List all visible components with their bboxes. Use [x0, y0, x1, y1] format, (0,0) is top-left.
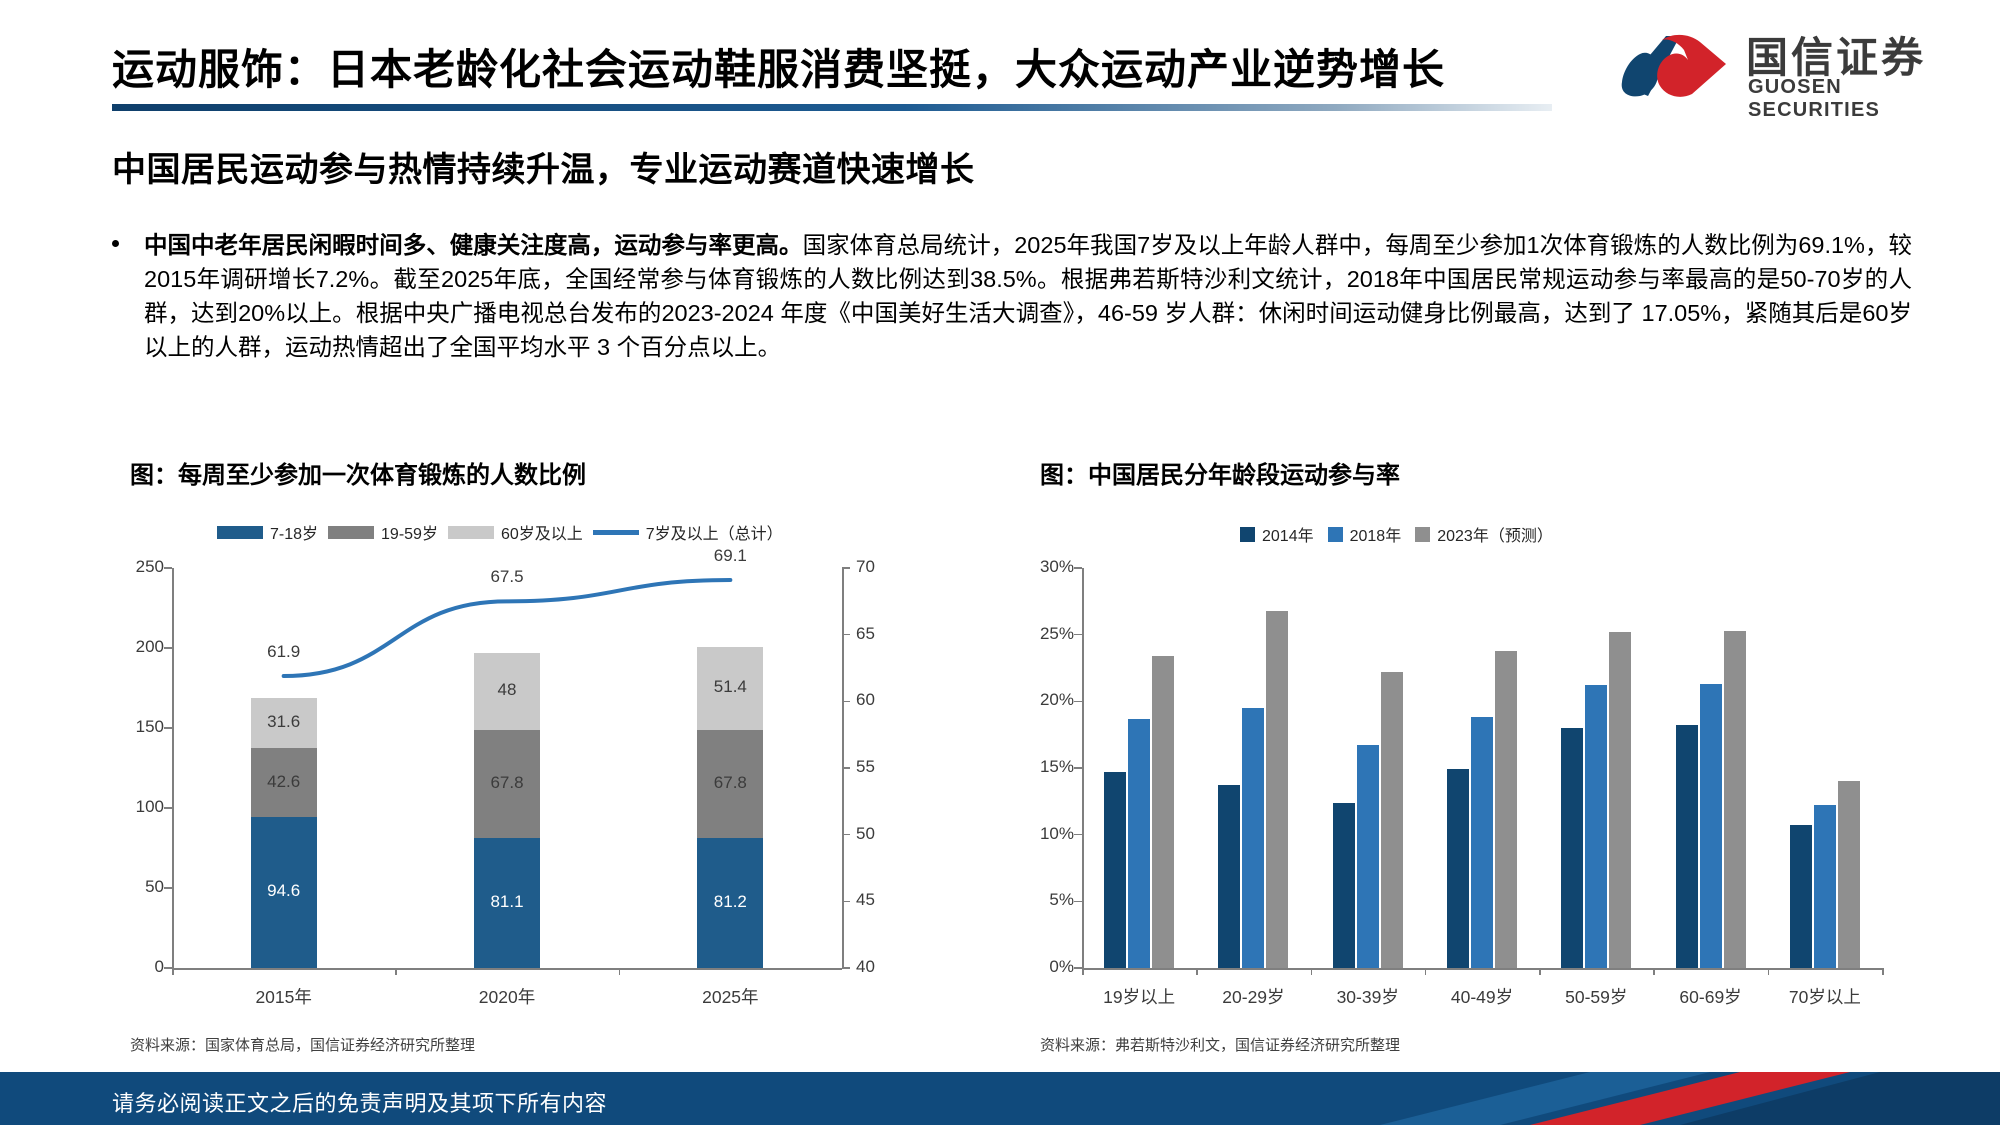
legend-label-r-2: 2023年（预测）	[1437, 522, 1553, 546]
legend-label-2: 60岁及以上	[501, 520, 583, 544]
y-tick-label-right-5: 65	[856, 624, 896, 644]
x-category-label-0: 2015年	[214, 984, 354, 1009]
x-tick-r-end	[1882, 968, 1884, 975]
y-tick-label-r-6: 30%	[1026, 557, 1074, 577]
x-tick-r-4	[1539, 968, 1541, 975]
y-tick-label-left-5: 250	[120, 557, 164, 577]
y-axis-right-chart	[1082, 568, 1084, 968]
bar-20-29岁-2014年	[1218, 785, 1240, 968]
y-tick-right-2	[842, 834, 850, 836]
x-category-label-1: 2020年	[437, 984, 577, 1009]
bar-60-69岁-2014年	[1676, 725, 1698, 968]
x-axis-right-chart	[1082, 968, 1882, 970]
bar-value-0-2: 31.6	[251, 712, 317, 732]
legend-label-r-0: 2014年	[1262, 522, 1314, 546]
bar-value-1-0: 81.1	[474, 892, 540, 912]
legend-label-line: 7岁及以上（总计）	[646, 520, 783, 544]
bar-value-0-0: 94.6	[251, 881, 317, 901]
y-tick-label-left-2: 100	[120, 797, 164, 817]
legend-label-1: 19-59岁	[381, 520, 438, 544]
x-tick-r-3	[1425, 968, 1427, 975]
slide-header: 运动服饰：日本老龄化社会运动鞋服消费坚挺，大众运动产业逆势增长 国信证券 GUO…	[0, 0, 2000, 118]
chart-weekly-exercise-share: 7-18岁19-59岁60岁及以上7岁及以上（总计）05010015020025…	[112, 520, 912, 1030]
header-divider	[112, 104, 1552, 111]
bar-value-2-1: 67.8	[697, 773, 763, 793]
figure-left: 图：每周至少参加一次体育锻炼的人数比例	[130, 455, 586, 490]
line-value-label-1: 67.5	[462, 567, 552, 587]
legend-swatch-r-0	[1240, 527, 1255, 542]
legend-item-r-1: 2018年	[1328, 522, 1402, 546]
bar-60-69岁-2018年	[1700, 684, 1722, 968]
y-tick-label-right-6: 70	[856, 557, 896, 577]
y-tick-right-1	[842, 901, 850, 903]
bullet-paragraph: 中国中老年居民闲暇时间多、健康关注度高，运动参与率更高。国家体育总局统计，202…	[112, 228, 1912, 364]
y-tick-right-4	[842, 701, 850, 703]
bullet-text: 中国中老年居民闲暇时间多、健康关注度高，运动参与率更高。国家体育总局统计，202…	[144, 228, 1912, 364]
chart-sports-participation-by-age: 2014年2018年2023年（预测）0%5%10%15%20%25%30%19…	[1020, 520, 1900, 1030]
y-tick-label-left-0: 0	[120, 957, 164, 977]
legend-swatch-r-1	[1328, 527, 1343, 542]
section-heading: 中国居民运动参与热情持续升温，专业运动赛道快速增长	[112, 142, 975, 191]
x-tick-r-5	[1653, 968, 1655, 975]
bar-70岁以上-2023年（预测）	[1838, 781, 1860, 968]
y-tick-r-2	[1074, 834, 1082, 836]
footer-decoration	[1380, 1072, 2000, 1125]
y-tick-label-right-3: 55	[856, 757, 896, 777]
guosen-logo-icon	[1614, 30, 1732, 102]
y-tick-r-0	[1074, 967, 1082, 969]
y-tick-r-3	[1074, 767, 1082, 769]
bar-value-1-2: 48	[474, 680, 540, 700]
y-tick-label-left-4: 200	[120, 637, 164, 657]
legend-swatch-1	[328, 526, 374, 539]
y-tick-label-right-1: 45	[856, 890, 896, 910]
x-tick-r-0	[1082, 968, 1084, 975]
x-axis-left	[172, 968, 842, 970]
y-tick-label-r-1: 5%	[1026, 890, 1074, 910]
x-tick-1	[395, 968, 397, 975]
y-tick-label-right-2: 50	[856, 824, 896, 844]
y-tick-label-right-4: 60	[856, 690, 896, 710]
y-tick-label-r-4: 20%	[1026, 690, 1074, 710]
y-tick-label-left-1: 50	[120, 877, 164, 897]
bar-30-39岁-2018年	[1357, 745, 1379, 968]
bar-50-59岁-2018年	[1585, 685, 1607, 968]
y-tick-left-1	[164, 887, 172, 889]
bar-40-49岁-2018年	[1471, 717, 1493, 968]
y-tick-left-2	[164, 807, 172, 809]
y-tick-right-5	[842, 634, 850, 636]
figure-right: 图：中国居民分年龄段运动参与率	[1040, 455, 1400, 490]
figure-left-source: 资料来源：国家体育总局，国信证券经济研究所整理	[130, 1034, 475, 1055]
legend-label-r-1: 2018年	[1350, 522, 1402, 546]
x-category-label-r-6: 70岁以上	[1755, 984, 1895, 1009]
x-tick-0	[172, 968, 174, 975]
bar-19岁以上-2014年	[1104, 772, 1126, 968]
bar-60-69岁-2023年（预测）	[1724, 631, 1746, 968]
bar-19岁以上-2018年	[1128, 719, 1150, 968]
bar-30-39岁-2014年	[1333, 803, 1355, 968]
bar-value-2-0: 81.2	[697, 892, 763, 912]
figure-right-title: 图：中国居民分年龄段运动参与率	[1040, 455, 1400, 490]
y-tick-left-4	[164, 647, 172, 649]
brand-logo: 国信证券 GUOSEN SECURITIES	[1614, 26, 1944, 106]
slide-root: 运动服饰：日本老龄化社会运动鞋服消费坚挺，大众运动产业逆势增长 国信证券 GUO…	[0, 0, 2000, 1125]
legend-item-1: 19-59岁	[328, 520, 438, 544]
bullet-dot-icon	[112, 240, 119, 247]
slide-footer: 请务必阅读正文之后的免责声明及其项下所有内容	[0, 1072, 2000, 1125]
bar-70岁以上-2018年	[1814, 805, 1836, 968]
y-tick-right-0	[842, 967, 850, 969]
legend-item-r-0: 2014年	[1240, 522, 1314, 546]
legend-item-r-2: 2023年（预测）	[1415, 522, 1553, 546]
figure-left-title: 图：每周至少参加一次体育锻炼的人数比例	[130, 455, 586, 490]
x-tick-r-6	[1768, 968, 1770, 975]
legend-item-0: 7-18岁	[217, 520, 318, 544]
bar-20-29岁-2018年	[1242, 708, 1264, 968]
y-tick-r-4	[1074, 701, 1082, 703]
bar-19岁以上-2023年（预测）	[1152, 656, 1174, 968]
legend-label-0: 7-18岁	[270, 520, 318, 544]
bar-50-59岁-2023年（预测）	[1609, 632, 1631, 968]
bar-30-39岁-2023年（预测）	[1381, 672, 1403, 968]
y-tick-label-r-2: 10%	[1026, 824, 1074, 844]
y-tick-r-5	[1074, 634, 1082, 636]
logo-text-en: GUOSEN SECURITIES	[1748, 76, 1944, 122]
line-value-label-2: 69.1	[685, 546, 775, 566]
legend-swatch-0	[217, 526, 263, 539]
x-tick-r-2	[1311, 968, 1313, 975]
y-tick-r-1	[1074, 901, 1082, 903]
x-category-label-2: 2025年	[660, 984, 800, 1009]
legend-swatch-r-2	[1415, 527, 1430, 542]
figure-right-source: 资料来源：弗若斯特沙利文，国信证券经济研究所整理	[1040, 1034, 1400, 1055]
y-tick-left-0	[164, 967, 172, 969]
bar-40-49岁-2023年（预测）	[1495, 651, 1517, 968]
y-tick-right-3	[842, 767, 850, 769]
bar-70岁以上-2014年	[1790, 825, 1812, 968]
legend-swatch-2	[448, 526, 494, 539]
x-tick-r-1	[1196, 968, 1198, 975]
chart-legend-right: 2014年2018年2023年（预测）	[1240, 522, 1553, 546]
y-tick-label-right-0: 40	[856, 957, 896, 977]
legend-item-2: 60岁及以上	[448, 520, 583, 544]
y-tick-label-left-3: 150	[120, 717, 164, 737]
line-value-label-0: 61.9	[239, 642, 329, 662]
y-tick-right-6	[842, 567, 850, 569]
bar-value-2-2: 51.4	[697, 677, 763, 697]
y-tick-left-5	[164, 567, 172, 569]
chart-legend-left: 7-18岁19-59岁60岁及以上7岁及以上（总计）	[217, 520, 783, 544]
y-tick-label-r-3: 15%	[1026, 757, 1074, 777]
bar-value-1-1: 67.8	[474, 773, 540, 793]
y-tick-label-r-0: 0%	[1026, 957, 1074, 977]
bar-40-49岁-2014年	[1447, 769, 1469, 968]
bar-20-29岁-2023年（预测）	[1266, 611, 1288, 968]
y-tick-label-r-5: 25%	[1026, 624, 1074, 644]
y-axis-left	[172, 568, 174, 968]
bullet-lead: 中国中老年居民闲暇时间多、健康关注度高，运动参与率更高。	[144, 232, 803, 258]
y-tick-r-6	[1074, 567, 1082, 569]
page-title: 运动服饰：日本老龄化社会运动鞋服消费坚挺，大众运动产业逆势增长	[112, 36, 1445, 97]
x-tick-2	[619, 968, 621, 975]
legend-swatch-line	[593, 530, 639, 535]
legend-item-line: 7岁及以上（总计）	[593, 520, 783, 544]
y-tick-left-3	[164, 727, 172, 729]
bar-50-59岁-2014年	[1561, 728, 1583, 968]
bar-value-0-1: 42.6	[251, 772, 317, 792]
footer-disclaimer: 请务必阅读正文之后的免责声明及其项下所有内容	[112, 1086, 607, 1118]
